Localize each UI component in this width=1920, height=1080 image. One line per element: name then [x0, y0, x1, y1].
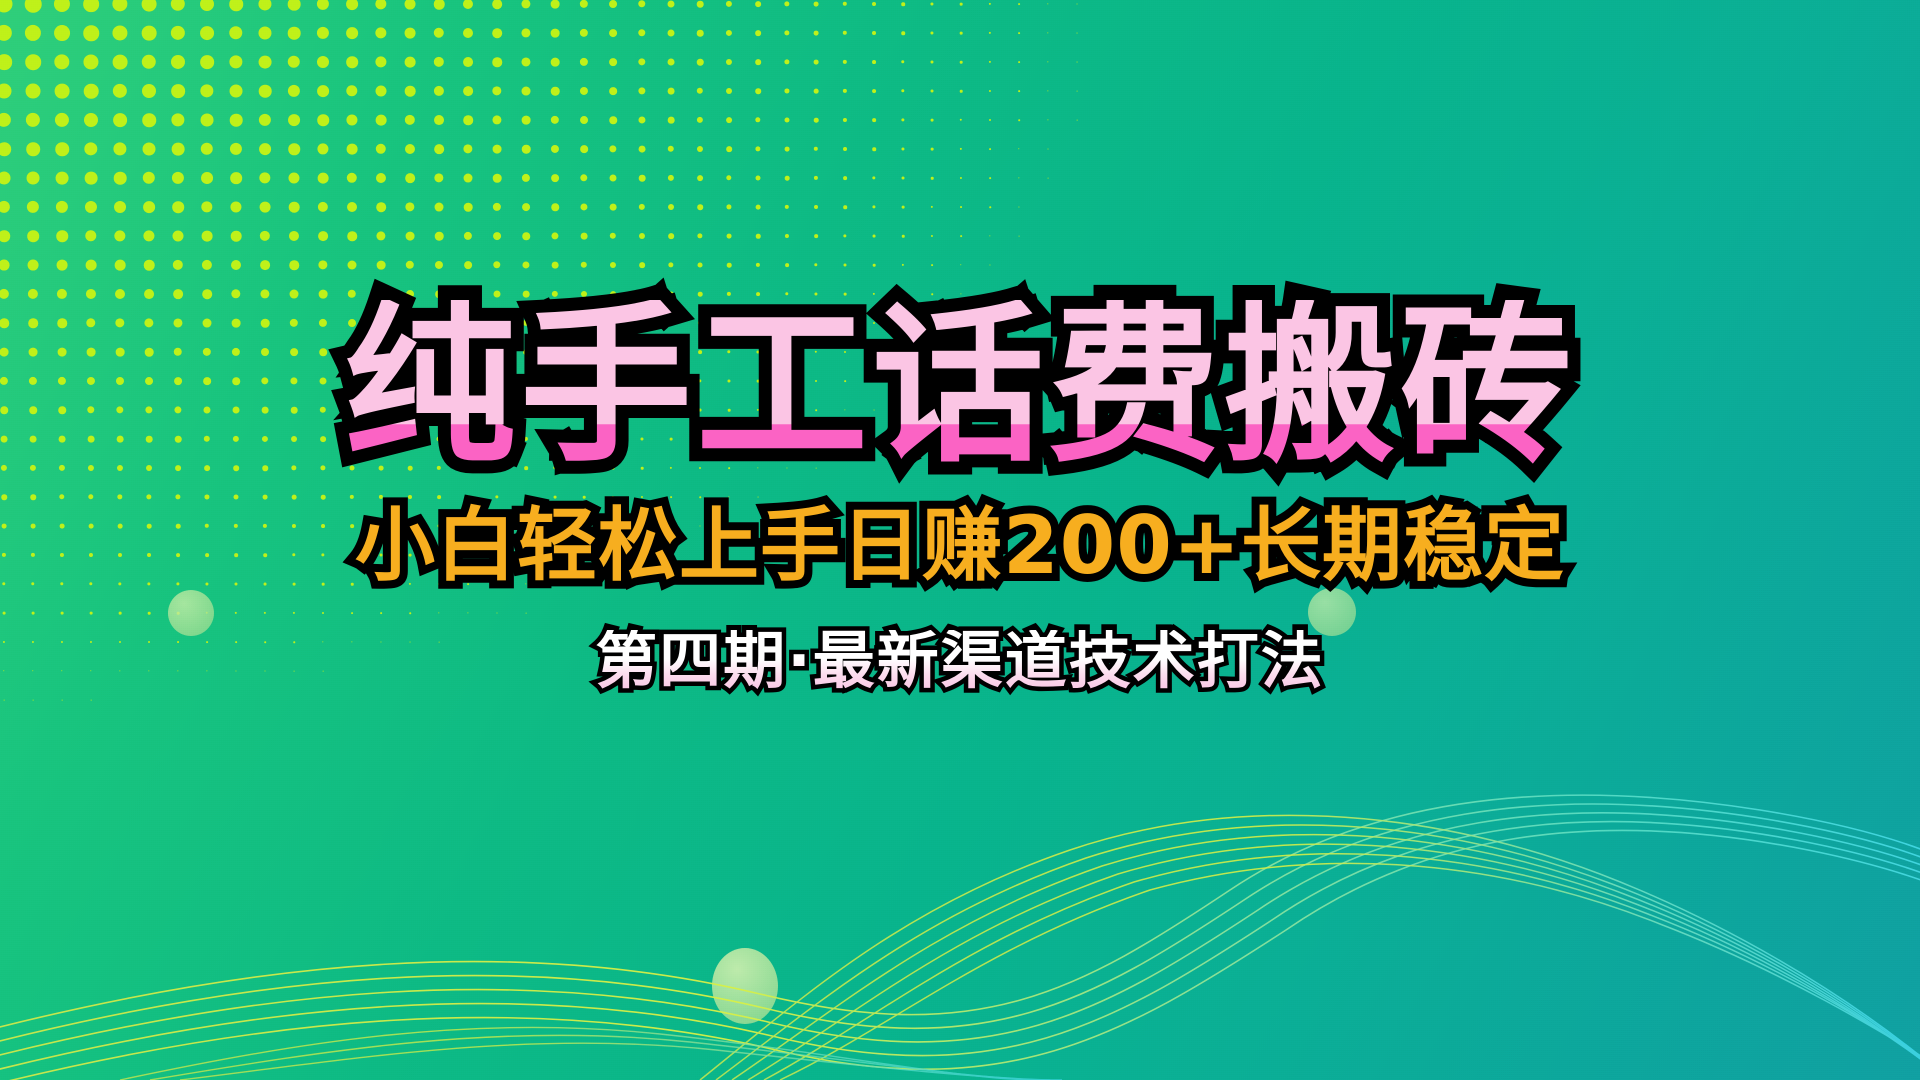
halftone-dot [142, 55, 156, 69]
halftone-dot [172, 172, 184, 184]
halftone-dot [1077, 4, 1078, 5]
halftone-dot [259, 143, 271, 155]
halftone-dot [638, 29, 645, 36]
halftone-dot [291, 436, 297, 442]
halftone-dot [755, 59, 761, 65]
halftone-dot [143, 172, 155, 184]
halftone-dot [232, 348, 240, 356]
halftone-dot [173, 289, 183, 299]
halftone-dot [553, 466, 556, 469]
halftone-dot [115, 260, 126, 271]
halftone-dot [380, 641, 381, 642]
halftone-dot [697, 233, 702, 238]
halftone-dot [317, 27, 329, 39]
halftone-dot [409, 612, 411, 614]
halftone-dot [289, 231, 299, 241]
halftone-dot [844, 322, 846, 324]
halftone-dot [669, 321, 674, 326]
halftone-dot [960, 293, 961, 294]
halftone-dot [31, 524, 36, 529]
halftone-dot [322, 612, 324, 614]
halftone-dot [0, 172, 10, 185]
halftone-dot [583, 554, 585, 556]
halftone-dot [581, 233, 588, 240]
halftone-dot [638, 58, 645, 65]
halftone-dot [698, 292, 703, 297]
halftone-dot [378, 436, 383, 441]
halftone-dot [843, 2, 847, 6]
halftone-dot [319, 319, 327, 327]
halftone-dot [380, 612, 382, 614]
halftone-dot [117, 436, 124, 443]
halftone-dot [641, 496, 643, 498]
halftone-dot [756, 234, 761, 239]
halftone-dot [610, 320, 615, 325]
halftone-dot [464, 203, 473, 212]
halftone-dot [493, 232, 501, 240]
halftone-dot [697, 204, 703, 210]
halftone-dot [930, 31, 933, 34]
halftone-dot [114, 201, 126, 213]
halftone-dot [785, 147, 790, 152]
halftone-dot [726, 1, 732, 7]
halftone-dot [524, 466, 528, 470]
halftone-dot [176, 524, 181, 529]
halftone-dot [378, 378, 385, 385]
halftone-dot [317, 0, 329, 10]
halftone-dot [580, 58, 588, 66]
halftone-dot [960, 90, 963, 93]
halftone-dot [1077, 33, 1078, 34]
halftone-dot [610, 262, 616, 268]
halftone-dot [235, 612, 237, 614]
halftone-dot [727, 321, 731, 325]
halftone-dot [931, 119, 934, 122]
halftone-dot [171, 55, 185, 69]
halftone-dot [406, 290, 414, 298]
halftone-dot [32, 612, 35, 615]
halftone-dot [815, 322, 818, 325]
halftone-dot [437, 495, 441, 499]
halftone-dot [407, 407, 413, 413]
halftone-dot [347, 231, 357, 241]
halftone-dot [728, 409, 731, 412]
halftone-dot [901, 31, 905, 35]
halftone-dot [523, 291, 530, 298]
halftone-dot [609, 145, 616, 152]
headline-outline-layer: 纯手工话费搬砖 [344, 300, 1576, 472]
halftone-dot [147, 582, 150, 585]
halftone-dot [258, 0, 271, 11]
halftone-dot [405, 115, 415, 125]
subtitle: 小白轻松上手日赚200+长期稳定 小白轻松上手日赚200+长期稳定 [355, 506, 1565, 586]
halftone-dot [288, 143, 300, 155]
decor-circle-right [1308, 588, 1356, 636]
halftone-dot [1047, 32, 1048, 33]
halftone-dot [581, 291, 587, 297]
halftone-dot [260, 202, 271, 213]
halftone-dot [755, 88, 761, 94]
halftone-dot [317, 85, 329, 97]
halftone-dot [492, 0, 502, 9]
halftone-dot [437, 437, 442, 442]
halftone-dot [143, 143, 156, 156]
halftone-dot [59, 494, 64, 499]
halftone-dot [350, 466, 355, 471]
halftone-dot [3, 612, 6, 615]
halftone-dot [1077, 91, 1078, 92]
halftone-dot [261, 348, 269, 356]
halftone-dot [697, 117, 703, 123]
halftone-dot [551, 0, 560, 8]
halftone-dot [902, 322, 904, 324]
halftone-dot [697, 1, 704, 8]
halftone-dot [86, 260, 97, 271]
halftone-dot [0, 230, 10, 242]
halftone-dot [407, 436, 412, 441]
halftone-dot [119, 612, 122, 615]
halftone-dot [117, 494, 122, 499]
halftone-dot [872, 89, 876, 93]
halftone-dot [551, 203, 559, 211]
halftone-dot [377, 261, 386, 270]
halftone-dot [380, 583, 382, 585]
halftone-dot [84, 84, 99, 99]
halftone-dot [230, 85, 243, 98]
halftone-dot [844, 293, 847, 296]
halftone-dot [758, 497, 759, 498]
halftone-dot [409, 554, 412, 557]
halftone-dot [349, 378, 356, 385]
halftone-dot [554, 554, 556, 556]
halftone-dot [873, 235, 876, 238]
halftone-dot [697, 88, 703, 94]
halftone-dot [1077, 62, 1078, 63]
halftone-dot [726, 175, 731, 180]
halftone-dot [525, 525, 528, 528]
halftone-dot [989, 148, 991, 150]
halftone-dot [784, 59, 789, 64]
halftone-dot [552, 320, 558, 326]
halftone-dot [845, 439, 846, 440]
halftone-dot [638, 116, 645, 123]
halftone-dot [321, 553, 324, 556]
halftone-dot [117, 465, 123, 471]
halftone-dot [289, 260, 299, 270]
halftone-dot [492, 57, 502, 67]
halftone-dot [582, 466, 585, 469]
halftone-dot [291, 465, 296, 470]
halftone-dot [931, 148, 934, 151]
halftone-dot [466, 466, 470, 470]
halftone-dot [4, 700, 5, 701]
poster-text-block: 纯手工话费搬砖 纯手工话费搬砖 小白轻松上手日赚200+长期稳定 小白轻松上手日… [0, 0, 1920, 1080]
halftone-dot [288, 85, 300, 97]
halftone-dot [989, 32, 991, 34]
halftone-dot [320, 436, 326, 442]
halftone-dot [410, 642, 411, 643]
halftone-dot [902, 264, 904, 266]
halftone-dot [786, 351, 789, 354]
halftone-dot [612, 525, 614, 527]
halftone-dot [434, 115, 444, 125]
halftone-dot [580, 203, 587, 210]
halftone-dot [116, 377, 124, 385]
halftone-dot [347, 144, 358, 155]
halftone-dot [375, 27, 386, 38]
halftone-dot [639, 262, 645, 268]
halftone-dot [668, 262, 673, 267]
halftone-dot [30, 494, 36, 500]
halftone-dot [640, 379, 644, 383]
halftone-dot [553, 408, 557, 412]
halftone-dot [147, 553, 151, 557]
halftone-dot [118, 553, 122, 557]
page-title: 纯手工话费搬砖 纯手工话费搬砖 [344, 300, 1576, 472]
halftone-dot [54, 0, 70, 12]
halftone-dot [202, 289, 212, 299]
halftone-dot [322, 583, 325, 586]
halftone-dot [406, 261, 414, 269]
halftone-dot [177, 670, 178, 671]
halftone-dot [434, 0, 445, 9]
halftone-dot [814, 31, 819, 36]
halftone-dot [932, 352, 933, 353]
halftone-dot [669, 292, 674, 297]
halftone-dot [467, 612, 468, 613]
halftone-dot [580, 116, 588, 124]
halftone-dot [843, 263, 846, 266]
halftone-dot [116, 348, 125, 357]
halftone-dot [521, 28, 530, 37]
halftone-dot [496, 583, 498, 585]
halftone-dot [259, 172, 270, 183]
halftone-dot [201, 172, 213, 184]
halftone-dot [258, 26, 271, 39]
halftone-dot [376, 86, 387, 97]
halftone-dot [231, 231, 242, 242]
halftone-dot [264, 583, 267, 586]
halftone-dot-pattern [0, 0, 1150, 700]
halftone-dot [145, 406, 152, 413]
halftone-dot [61, 641, 63, 643]
halftone-dot [27, 230, 39, 242]
halftone-dot [493, 203, 501, 211]
halftone-dot [843, 118, 847, 122]
halftone-dot [463, 0, 473, 9]
halftone-dot [785, 263, 789, 267]
halftone-dot [786, 380, 788, 382]
halftone-dot [525, 554, 527, 556]
halftone-dot [668, 204, 674, 210]
halftone-dot [467, 554, 469, 556]
halftone-dot [551, 29, 560, 38]
halftone-dot [171, 0, 185, 11]
halftone-dot [609, 58, 617, 66]
halftone-dot [317, 143, 328, 154]
halftone-dot [669, 350, 673, 354]
halftone-dot [262, 407, 269, 414]
halftone-dot [961, 323, 962, 324]
halftone-dot [203, 348, 211, 356]
halftone-dot [525, 583, 526, 584]
halftone-dot [435, 232, 444, 241]
halftone-dot [28, 318, 38, 328]
halftone-dot [960, 177, 962, 179]
halftone-dot [318, 260, 327, 269]
halftone-dot [697, 30, 704, 37]
halftone-dot [55, 84, 70, 99]
halftone-dot [376, 202, 386, 212]
halftone-dot [290, 319, 298, 327]
halftone-dot [668, 117, 675, 124]
halftone-dot [261, 319, 270, 328]
halftone-dot [989, 177, 991, 179]
halftone-dot [318, 231, 328, 241]
halftone-dot [229, 26, 242, 39]
halftone-dot [610, 233, 616, 239]
halftone-dot [234, 553, 238, 557]
halftone-dot [56, 230, 68, 242]
halftone-dot [3, 670, 4, 671]
halftone-dot [83, 54, 98, 69]
halftone-dot [786, 409, 788, 411]
halftone-dot [407, 349, 414, 356]
halftone-dot [171, 113, 184, 126]
halftone-dot [494, 320, 501, 327]
halftone-dot [147, 524, 152, 529]
halftone-dot [375, 0, 386, 10]
halftone-dot [815, 351, 817, 353]
halftone-dot [318, 173, 329, 184]
halftone-dot [202, 260, 212, 270]
halftone-dot [435, 261, 443, 269]
halftone-dot [989, 235, 990, 236]
halftone-dot [465, 349, 471, 355]
halftone-dot [201, 143, 213, 155]
halftone-dot [320, 465, 325, 470]
halftone-dot [610, 204, 617, 211]
halftone-dot [292, 524, 296, 528]
halftone-dot [960, 32, 963, 35]
halftone-dot [494, 378, 500, 384]
halftone-dot [901, 118, 904, 121]
halftone-dot [522, 116, 531, 125]
halftone-dot [171, 84, 185, 98]
halftone-dot [668, 146, 674, 152]
halftone-dot [1018, 148, 1019, 149]
halftone-dot [1047, 119, 1048, 120]
halftone-dot [698, 350, 702, 354]
halftone-dot [990, 294, 991, 295]
halftone-dot [582, 408, 586, 412]
halftone-dot [463, 86, 473, 96]
halftone-dot [206, 670, 207, 671]
halftone-dot [200, 26, 214, 40]
halftone-dot [172, 143, 185, 156]
halftone-dot [145, 348, 154, 357]
halftone-dot [438, 554, 441, 557]
halftone-dot [175, 494, 180, 499]
subtitle-outline-layer: 小白轻松上手日赚200+长期稳定 [355, 506, 1565, 586]
halftone-dot [1018, 3, 1020, 5]
halftone-dot [640, 350, 644, 354]
halftone-dot [317, 114, 329, 126]
halftone-dot [116, 406, 123, 413]
halftone-dot [464, 232, 472, 240]
halftone-dot [201, 201, 212, 212]
halftone-dot [1047, 90, 1048, 91]
halftone-dot [610, 291, 616, 297]
halftone-dot [467, 583, 469, 585]
halftone-dot [60, 524, 65, 529]
halftone-dot [843, 205, 847, 209]
halftone-dot [902, 351, 903, 352]
halftone-dot [379, 466, 384, 471]
halftone-dot [290, 377, 297, 384]
halftone-dot [844, 409, 845, 410]
halftone-dot [727, 379, 730, 382]
halftone-dot [115, 318, 124, 327]
halftone-dot [464, 261, 472, 269]
halftone-dot [174, 377, 182, 385]
halftone-dot [203, 377, 211, 385]
halftone-dot [495, 466, 499, 470]
halftone-dot [346, 56, 358, 68]
halftone-dot [235, 641, 237, 643]
halftone-dot [406, 232, 415, 241]
halftone-dot [465, 378, 471, 384]
halftone-dot [551, 116, 559, 124]
halftone-dot [171, 26, 185, 40]
halftone-dot [699, 409, 702, 412]
halftone-dot [524, 495, 527, 498]
halftone-dot [785, 292, 788, 295]
halftone-dot [522, 145, 531, 154]
halftone-dot [288, 114, 300, 126]
halftone-dot [31, 553, 35, 557]
halftone-dot [177, 641, 179, 643]
halftone-dot [204, 465, 210, 471]
halftone-dot [784, 88, 789, 93]
halftone-dot [463, 115, 473, 125]
halftone-dot [54, 25, 70, 41]
halftone-dot [319, 348, 327, 356]
halftone-dot [815, 409, 817, 411]
halftone-dot [146, 436, 153, 443]
halftone-dot [697, 175, 703, 181]
halftone-dot [493, 261, 500, 268]
halftone-dot [465, 407, 470, 412]
halftone-dot [638, 87, 645, 94]
tagline-fill-layer: 第四期·最新渠道技术打法 [595, 630, 1325, 692]
halftone-dot [407, 378, 413, 384]
halftone-dot [495, 408, 500, 413]
halftone-dot [872, 60, 876, 64]
halftone-dot [435, 290, 443, 298]
decor-circle-bottom [712, 948, 778, 1024]
halftone-dot [84, 113, 98, 127]
halftone-dot [814, 89, 819, 94]
halftone-dot [114, 230, 125, 241]
halftone-dot [88, 465, 94, 471]
halftone-dot [112, 0, 127, 12]
halftone-dot [670, 438, 673, 441]
halftone-dot [405, 86, 416, 97]
halftone-dot [814, 147, 818, 151]
halftone-dot [200, 0, 214, 11]
halftone-dot [435, 203, 444, 212]
